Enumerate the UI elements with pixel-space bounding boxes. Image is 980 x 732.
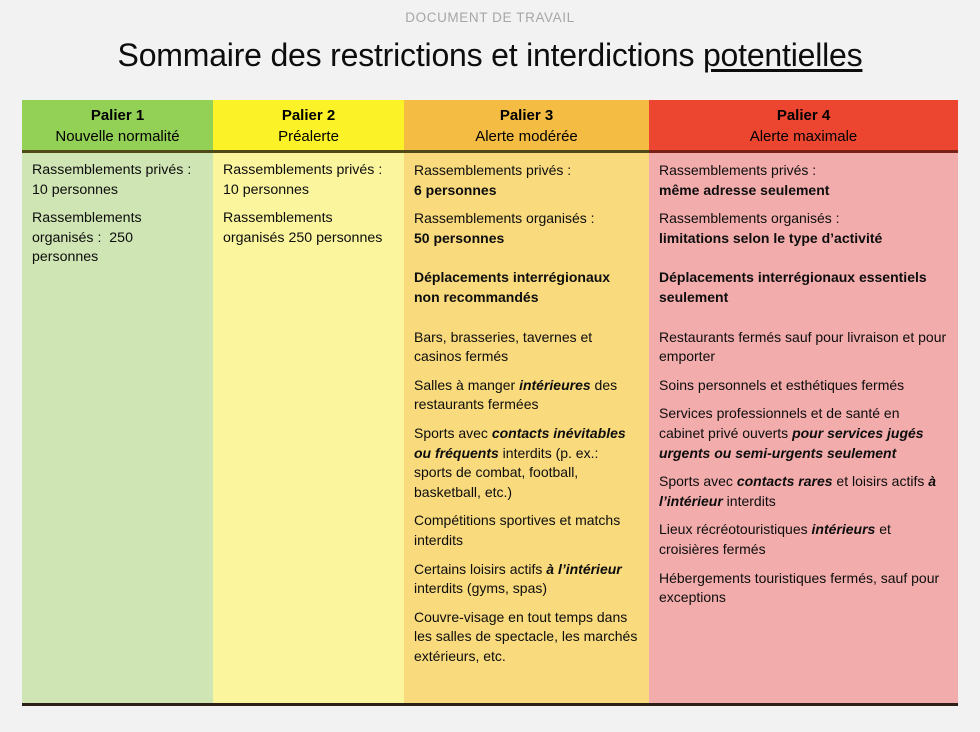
page-title: Sommaire des restrictions et interdictio…: [0, 33, 980, 77]
column-subtitle: Nouvelle normalité: [26, 126, 209, 147]
restriction-item: Rassemblements privés :10 personnes: [32, 161, 203, 200]
restriction-item: Restaurants fermés sauf pour livraison e…: [659, 328, 948, 367]
restriction-item: Hébergements touristiques fermés, sauf p…: [659, 569, 948, 608]
restriction-item: Déplacements interrégionaux essentiels s…: [659, 268, 948, 307]
column-header-palier-1: Palier 1 Nouvelle normalité: [22, 100, 213, 153]
column-subtitle: Préalerte: [217, 126, 400, 147]
column-body-palier-1: Rassemblements privés :10 personnesRasse…: [22, 153, 213, 703]
table-column-palier-2: Palier 2 Préalerte Rassemblements privés…: [213, 100, 404, 703]
restriction-item: Rassemblementsorganisés : 250 personnes: [32, 209, 203, 268]
page-title-main: Sommaire des restrictions et interdictio…: [118, 37, 703, 73]
table-column-palier-3: Palier 3 Alerte modérée Rassemblements p…: [404, 100, 649, 703]
column-header-palier-2: Palier 2 Préalerte: [213, 100, 404, 153]
table-column-palier-4: Palier 4 Alerte maximale Rassemblements …: [649, 100, 958, 703]
column-title: Palier 1: [26, 106, 209, 126]
column-body-palier-4: Rassemblements privés :même adresse seul…: [649, 153, 958, 703]
restriction-item: Sports avec contacts rares et loisirs ac…: [659, 472, 948, 511]
column-body-palier-3: Rassemblements privés :6 personnesRassem…: [404, 153, 649, 703]
restriction-item: Salles à manger intérieures des restaura…: [414, 376, 639, 415]
slide-page: DOCUMENT DE TRAVAIL Sommaire des restric…: [0, 0, 980, 732]
restriction-item: Lieux récréotouristiques intérieurs et c…: [659, 520, 948, 559]
restriction-item: Rassemblements privés :6 personnes: [414, 161, 639, 200]
page-title-emphasis: potentielles: [703, 37, 863, 73]
restriction-item: Déplacements interrégionaux non recomman…: [414, 268, 639, 307]
restriction-item: Sports avec contacts inévitables ou fréq…: [414, 424, 639, 502]
restriction-item: Couvre-visage en tout temps dans les sal…: [414, 608, 639, 667]
restrictions-table: Palier 1 Nouvelle normalité Rassemblemen…: [22, 100, 958, 706]
restriction-item: Certains loisirs actifs à l’intérieur in…: [414, 560, 639, 599]
restriction-item: Rassemblementsorganisés 250 personnes: [223, 209, 394, 248]
restriction-item: Compétitions sportives et matchs interdi…: [414, 511, 639, 550]
column-title: Palier 3: [408, 106, 645, 126]
restriction-item: Bars, brasseries, tavernes et casinos fe…: [414, 328, 639, 367]
restriction-item: Rassemblements organisés :limitations se…: [659, 209, 948, 248]
column-body-palier-2: Rassemblements privés :10 personnesRasse…: [213, 153, 404, 703]
column-header-palier-4: Palier 4 Alerte maximale: [649, 100, 958, 153]
document-kicker: DOCUMENT DE TRAVAIL: [0, 0, 980, 27]
table-columns: Palier 1 Nouvelle normalité Rassemblemen…: [22, 100, 958, 703]
restriction-item: Rassemblements privés :même adresse seul…: [659, 161, 948, 200]
restriction-item: Rassemblements organisés :50 personnes: [414, 209, 639, 248]
column-header-palier-3: Palier 3 Alerte modérée: [404, 100, 649, 153]
restriction-item: Rassemblements privés :10 personnes: [223, 161, 394, 200]
column-subtitle: Alerte modérée: [408, 126, 645, 147]
column-title: Palier 4: [653, 106, 954, 126]
table-column-palier-1: Palier 1 Nouvelle normalité Rassemblemen…: [22, 100, 213, 703]
column-title: Palier 2: [217, 106, 400, 126]
restriction-item: Services professionnels et de santé en c…: [659, 404, 948, 463]
column-subtitle: Alerte maximale: [653, 126, 954, 147]
restriction-item: Soins personnels et esthétiques fermés: [659, 376, 948, 396]
